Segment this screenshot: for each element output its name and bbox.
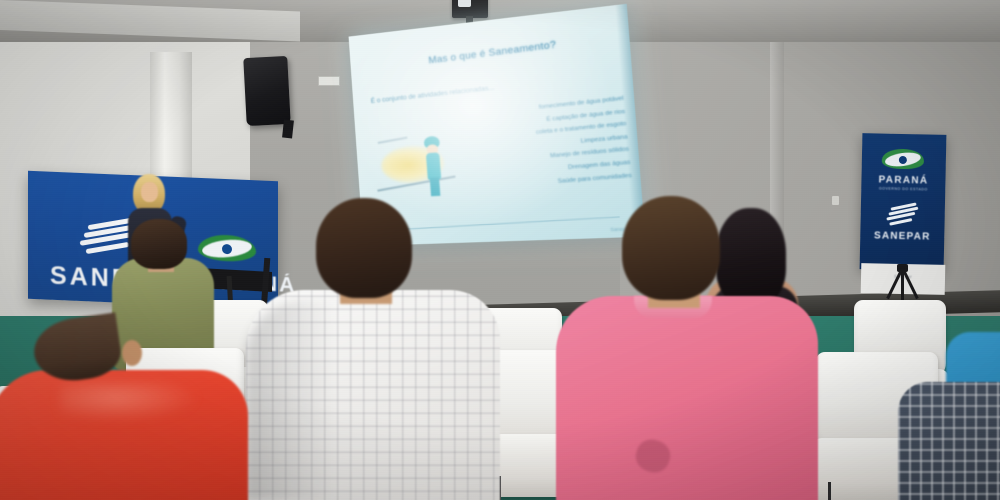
person-plaid-shirt-arm: [884, 424, 936, 500]
person-pink-shirt-head: [622, 196, 720, 300]
parana-logo-icon-rollup: [882, 146, 927, 173]
person-pink-shirt-torso: [556, 296, 818, 500]
illustration-line-top: [378, 137, 408, 144]
wall-speaker: [243, 56, 290, 126]
cartoon-body-icon: [426, 152, 441, 180]
presenter-face: [141, 182, 158, 202]
rollup-sanepar-wordmark: SANEPAR: [860, 230, 944, 243]
cartoon-legs-icon: [430, 177, 441, 196]
rollup-parana-wordmark: PARANÁ: [861, 174, 945, 187]
person-checkered-shirt-shading: [246, 300, 336, 500]
wall-switch: [832, 196, 839, 205]
slide-title: Mas o que é Saneamento?: [380, 32, 612, 73]
parana-logo-icon: [198, 230, 260, 269]
slide-illustration: [371, 119, 475, 209]
slide-subtitle: É o conjunto de atividades relacionadas.…: [371, 78, 550, 105]
projector-lens-icon: [458, 0, 471, 7]
speaker-bracket: [282, 120, 294, 139]
person-red-shirt-ear: [122, 340, 142, 366]
rollup-parana-subtitle: GOVERNO DO ESTADO: [861, 186, 945, 192]
sanepar-logo-icon-rollup: [887, 208, 921, 227]
person-dark-hair-woman-head: [716, 208, 786, 306]
person-olive-shirt-head: [131, 219, 187, 269]
wall-outlet-box: [318, 76, 340, 86]
conference-room-photo: Mas o que é Saneamento? É o conjunto de …: [0, 0, 1000, 500]
parana-sanepar-rollup-banner: PARANÁ GOVERNO DO ESTADO SANEPAR: [860, 133, 947, 271]
banner-tripod: [880, 268, 924, 304]
slide-bullet-list: fornecimento de água potável É captação …: [456, 93, 632, 195]
person-checkered-shirt-head: [316, 198, 412, 298]
